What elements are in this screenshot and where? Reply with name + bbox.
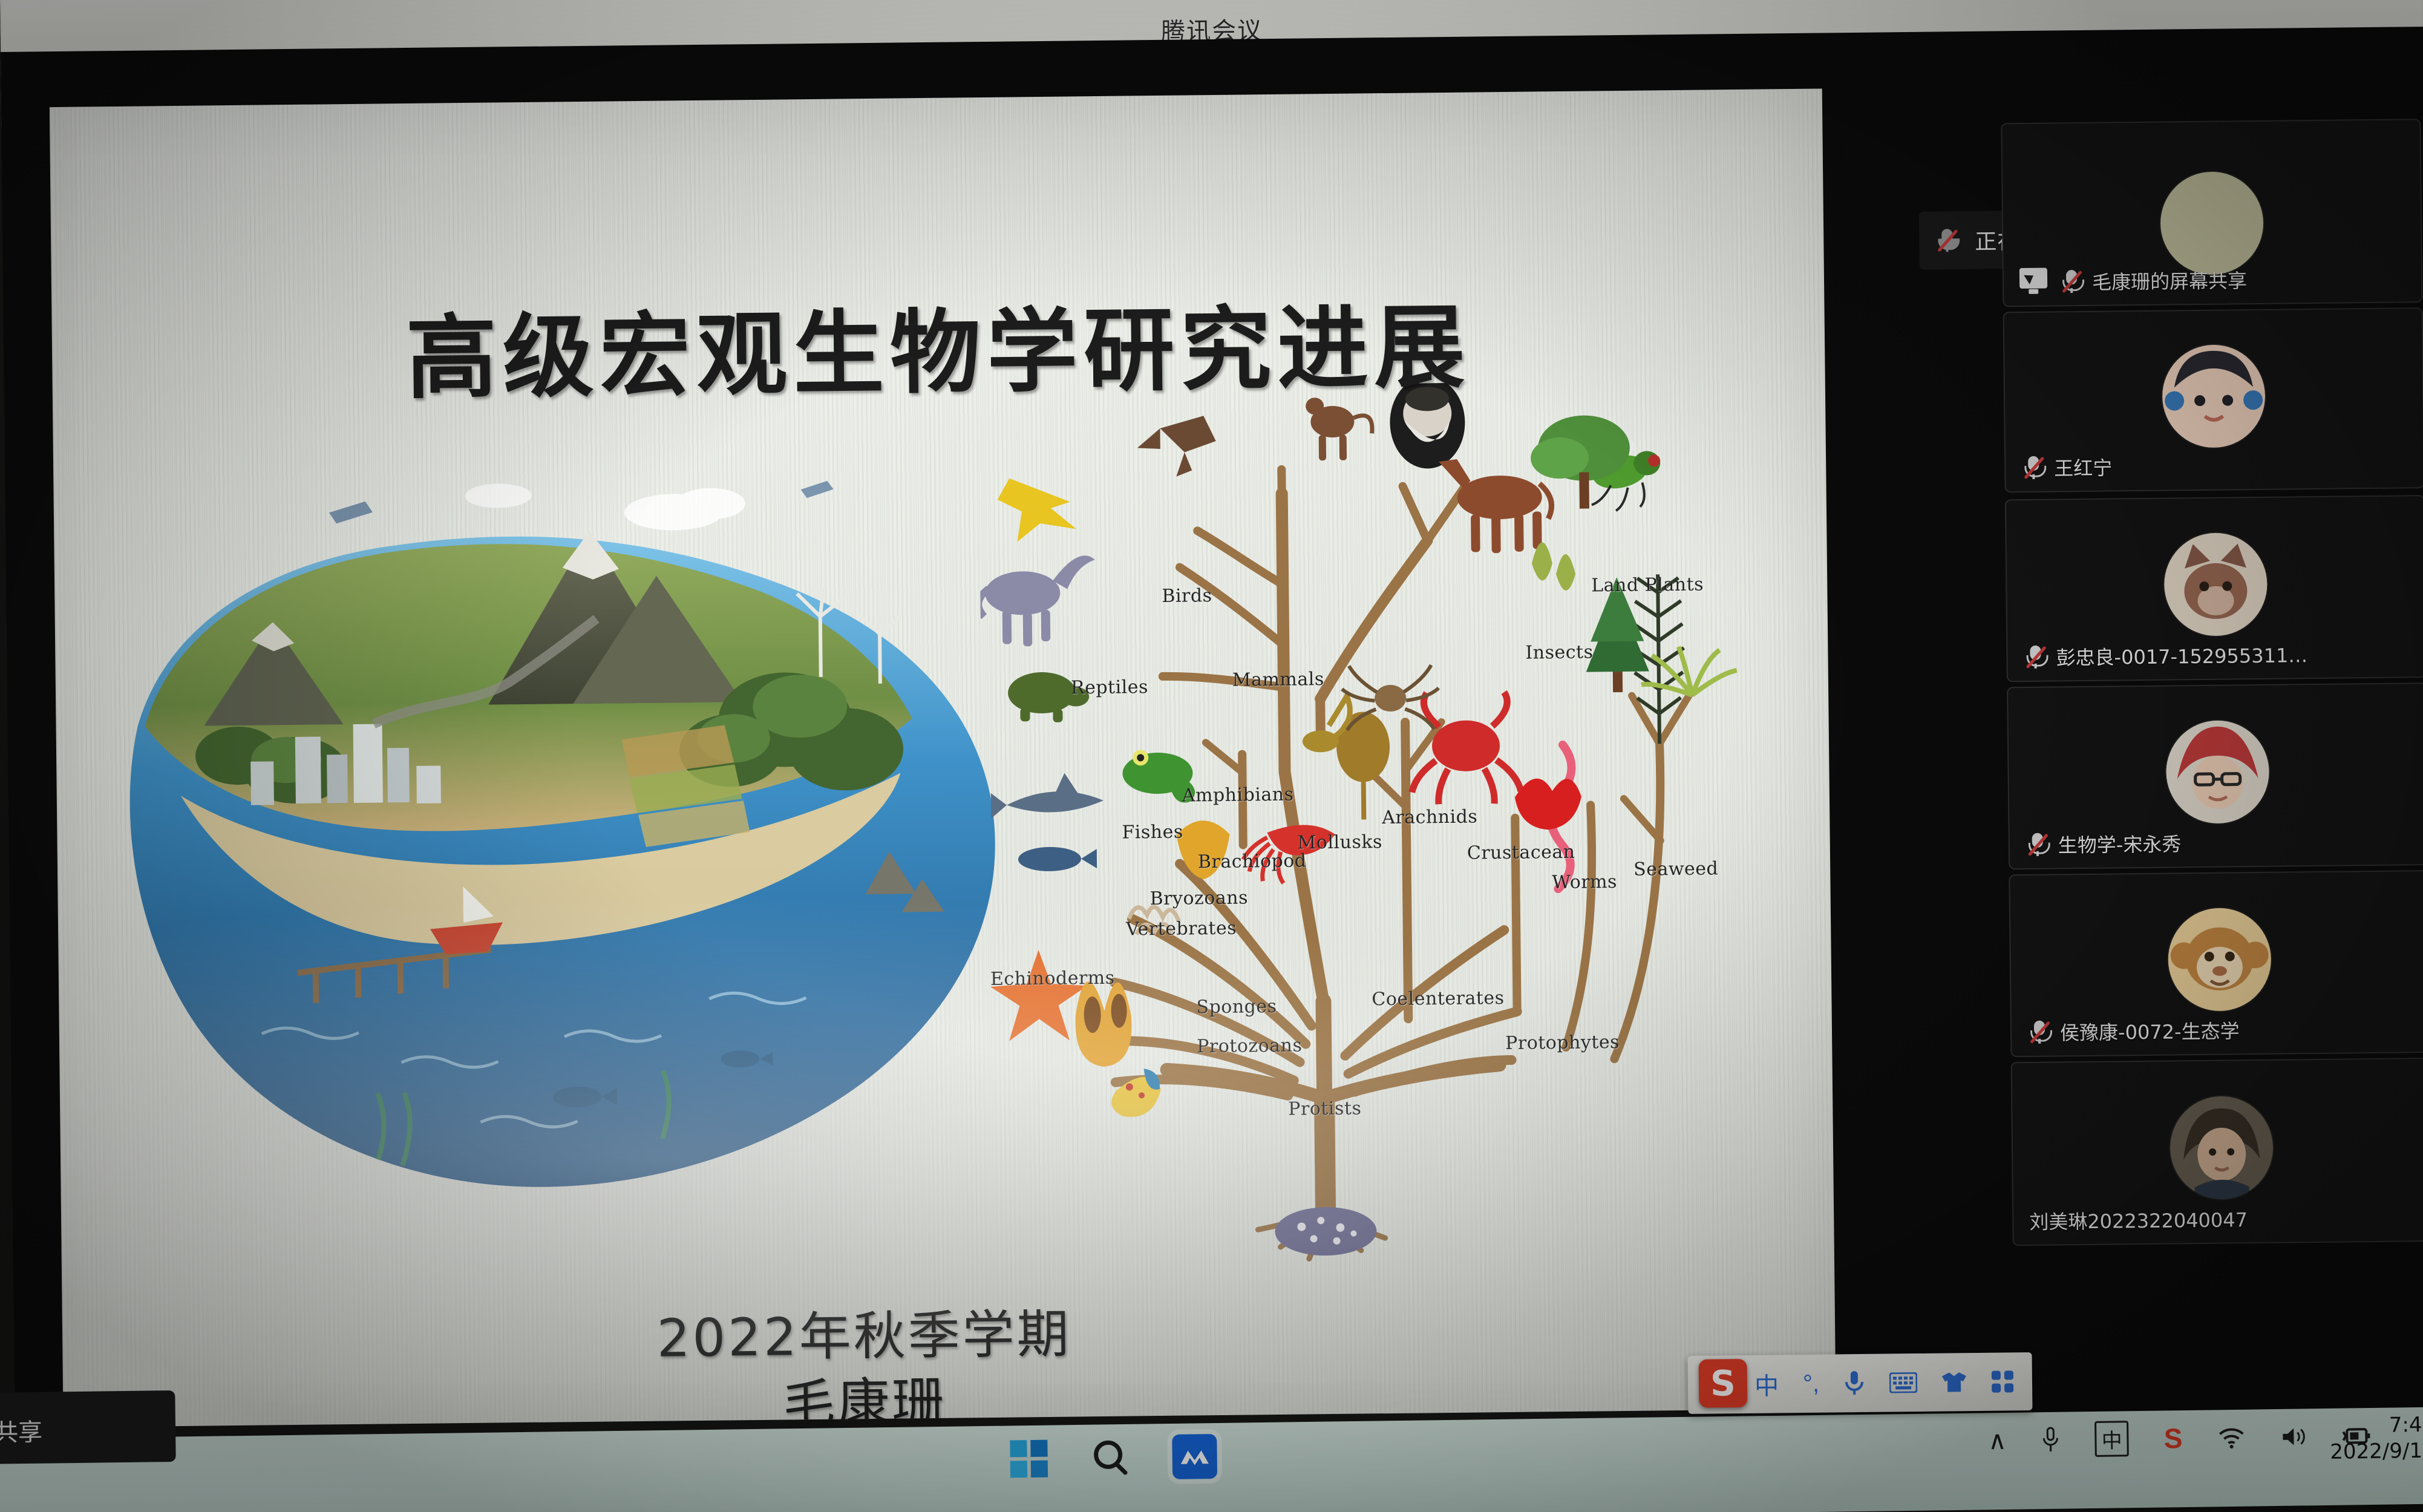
tree-label-crustacean: Crustacean [1467, 842, 1575, 864]
tree-label-arachnids: Arachnids [1382, 806, 1477, 828]
tree-label-sponges: Sponges [1196, 996, 1277, 1018]
tree-label-protophytes: Protophytes [1505, 1032, 1620, 1054]
participant-nameline: 生物学-宋永秀 [2026, 829, 2182, 859]
meeting-body: 高级宏观生物学研究进展 [1, 27, 2423, 1428]
tree-label-reptiles: Reptiles [1071, 676, 1148, 698]
participant-name: 王红宁 [2054, 453, 2112, 481]
mic-muted-icon [2026, 831, 2050, 859]
tree-of-life-illustration: Birds Reptiles Mammals Land Plants Insec… [978, 379, 1822, 1271]
screen-share-label: 幕共享 [0, 1413, 42, 1448]
participant-tile-3[interactable]: 生物学-宋永秀 [2007, 682, 2423, 869]
system-tray: ∧ 中 S [1988, 1418, 2372, 1458]
taskbar-clock[interactable]: 7:49 2022/9/13 [2330, 1412, 2423, 1465]
avatar [2170, 1096, 2274, 1200]
participant-name: 毛康珊的屏幕共享 [2092, 266, 2247, 295]
participant-nameline: 侯豫康-0072-生态学 [2027, 1016, 2240, 1046]
ime-toolbox-icon[interactable] [1991, 1370, 2014, 1393]
avatar [2166, 720, 2270, 824]
tree-label-coelenterates: Coelenterates [1372, 987, 1505, 1010]
slide-title: 高级宏观生物学研究进展 [51, 270, 1825, 420]
participant-name: 侯豫康-0072-生态学 [2060, 1016, 2240, 1046]
participant-rail: 正在讲话: 毛康珊的屏幕共享 [1840, 82, 2423, 1440]
participant-nameline: 彭忠良-0017-152955311… [2023, 640, 2307, 671]
mic-muted-icon [2059, 267, 2084, 295]
tree-label-protozoans: Protozoans [1197, 1035, 1303, 1058]
screen-share-icon [2019, 268, 2051, 296]
show-hidden-icons-icon[interactable]: ∧ [1988, 1425, 2007, 1455]
screen-share-control-bar[interactable]: 幕共享 [0, 1390, 176, 1464]
ime-language-mode-icon[interactable]: 中 [1754, 1366, 1779, 1401]
tree-label-mollusks: Mollusks [1298, 831, 1383, 853]
tree-label-vertebrates: Vertebrates [1126, 918, 1237, 940]
tree-label-protists: Protists [1288, 1098, 1361, 1120]
sogou-ime-toolbar[interactable]: S 中 °, [1688, 1352, 2033, 1414]
ime-soft-keyboard-icon[interactable] [1889, 1372, 1917, 1393]
ime-voice-input-icon[interactable] [1843, 1370, 1865, 1396]
ime-chinese-icon[interactable]: 中 [2094, 1421, 2129, 1457]
monitor-screen: 腾讯会议 [0, 0, 2423, 1440]
tree-label-insects: Insects [1525, 641, 1593, 663]
avatar [2168, 908, 2272, 1012]
start-button-icon[interactable] [1010, 1440, 1048, 1478]
volume-icon[interactable] [2280, 1425, 2307, 1448]
wifi-icon[interactable] [2217, 1426, 2245, 1448]
clock-time: 7:49 [2330, 1412, 2423, 1439]
tree-label-fishes: Fishes [1122, 822, 1183, 843]
avatar [2163, 532, 2268, 637]
participant-nameline: 毛康珊的屏幕共享 [2019, 266, 2247, 296]
tencent-meeting-window: 腾讯会议 [0, 0, 2423, 1428]
tree-label-mammals: Mammals [1232, 669, 1324, 691]
tree-label-land-plants: Land Plants [1591, 574, 1704, 597]
participant-name: 刘美琳2022322040047 [2029, 1205, 2248, 1235]
tree-label-worms: Worms [1552, 871, 1617, 893]
shared-screen-area: 高级宏观生物学研究进展 [50, 88, 1836, 1427]
mic-muted-icon [2021, 454, 2045, 482]
ime-punctuation-mode-icon[interactable]: °, [1803, 1370, 1820, 1397]
participant-tile-4[interactable]: 侯豫康-0072-生态学 [2009, 870, 2423, 1057]
tree-label-brachiopod: Brachiopod [1198, 850, 1307, 872]
participant-name: 生物学-宋永秀 [2058, 829, 2182, 858]
search-icon[interactable] [1091, 1437, 1129, 1478]
participant-tile-screenshare[interactable]: 毛康珊的屏幕共享 [2001, 119, 2422, 307]
mic-muted-icon [2023, 643, 2047, 671]
ime-skin-icon[interactable] [1941, 1371, 1967, 1393]
mic-muted-icon [1935, 226, 1959, 254]
participant-nameline: 刘美琳2022322040047 [2029, 1205, 2248, 1235]
participant-tile-1[interactable]: 王红宁 [2003, 307, 2423, 493]
avatar [2160, 171, 2264, 275]
mic-muted-icon [2027, 1018, 2052, 1046]
tree-label-echinoderms: Echinoderms [990, 967, 1115, 990]
powerpoint-slide: 高级宏观生物学研究进展 [50, 88, 1836, 1427]
taskbar-tencent-meeting-icon[interactable] [1172, 1434, 1217, 1479]
participant-tile-5[interactable]: 刘美琳2022322040047 [2011, 1058, 2423, 1246]
participant-tile-2[interactable]: 彭忠良-0017-152955311… [2005, 495, 2423, 682]
avatar [2162, 344, 2266, 448]
clock-date: 2022/9/13 [2330, 1438, 2423, 1465]
tree-label-amphibians: Amphibians [1182, 784, 1294, 807]
tree-label-bryozoans: Bryozoans [1149, 887, 1248, 909]
participant-nameline: 王红宁 [2021, 453, 2112, 482]
photograph-of-monitor: 腾讯会议 [0, 0, 2423, 1512]
microphone-icon[interactable] [2041, 1426, 2060, 1453]
tree-label-seaweed: Seaweed [1633, 858, 1718, 880]
taskbar-apps [1010, 1434, 1217, 1481]
sogou-logo-icon[interactable]: S [1699, 1359, 1748, 1408]
participant-name: 彭忠良-0017-152955311… [2056, 640, 2307, 670]
sogou-tray-icon[interactable]: S [2163, 1422, 2182, 1455]
ecosystem-island-illustration [111, 433, 1026, 1211]
tree-label-birds: Birds [1162, 585, 1212, 607]
